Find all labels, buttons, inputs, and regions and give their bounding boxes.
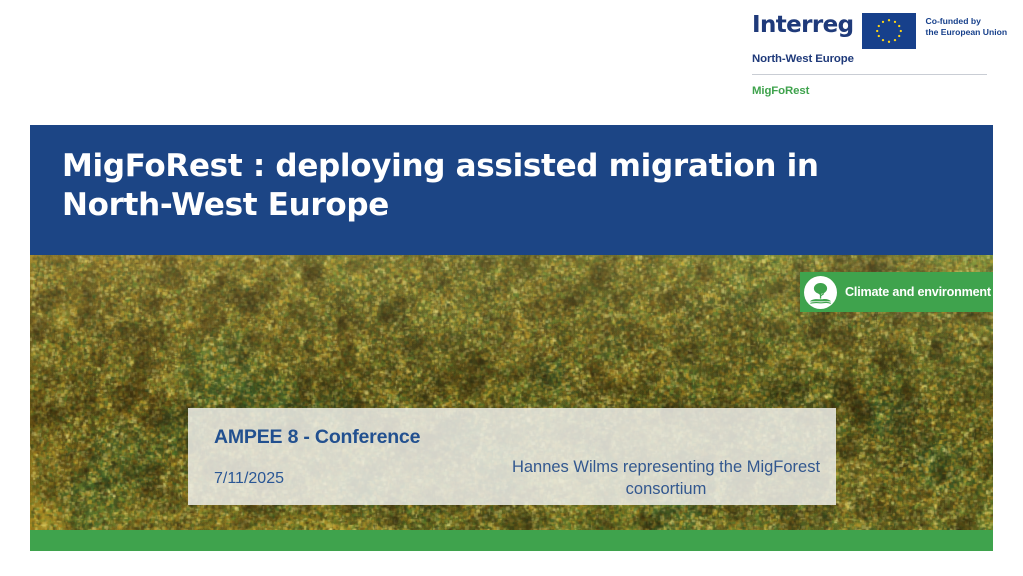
- eu-flag-icon: [862, 13, 916, 49]
- tree-landscape-icon: [804, 276, 837, 309]
- eu-funding-text: Co-funded by the European Union: [925, 16, 1007, 39]
- programme-name: North-West Europe: [752, 53, 994, 65]
- title-band: MigFoRest : deploying assisted migration…: [30, 125, 993, 255]
- event-date: 7/11/2025: [214, 470, 420, 488]
- footer-bar: [30, 530, 993, 551]
- event-title: AMPEE 8 - Conference: [214, 426, 420, 449]
- caption-left-group: AMPEE 8 - Conference 7/11/2025: [214, 426, 420, 488]
- project-name: MigFoRest: [752, 85, 994, 97]
- presentation-slide: Interreg: [0, 0, 1023, 576]
- caption-box: AMPEE 8 - Conference 7/11/2025 Hannes Wi…: [188, 408, 836, 505]
- logo-row: Interreg: [752, 12, 994, 49]
- status-badge: Climate and environment: [800, 272, 993, 312]
- presenter-name: Hannes Wilms representing the MigForest …: [506, 456, 826, 500]
- eu-funding-line-2: the European Union: [925, 27, 1007, 38]
- logo-divider: [752, 74, 987, 75]
- page-title: MigFoRest : deploying assisted migration…: [62, 147, 922, 226]
- interreg-wordmark: Interreg: [752, 14, 853, 37]
- eu-funding-line-1: Co-funded by: [925, 16, 1007, 27]
- interreg-logo-block: Interreg: [752, 12, 994, 97]
- status-badge-label: Climate and environment: [845, 285, 991, 300]
